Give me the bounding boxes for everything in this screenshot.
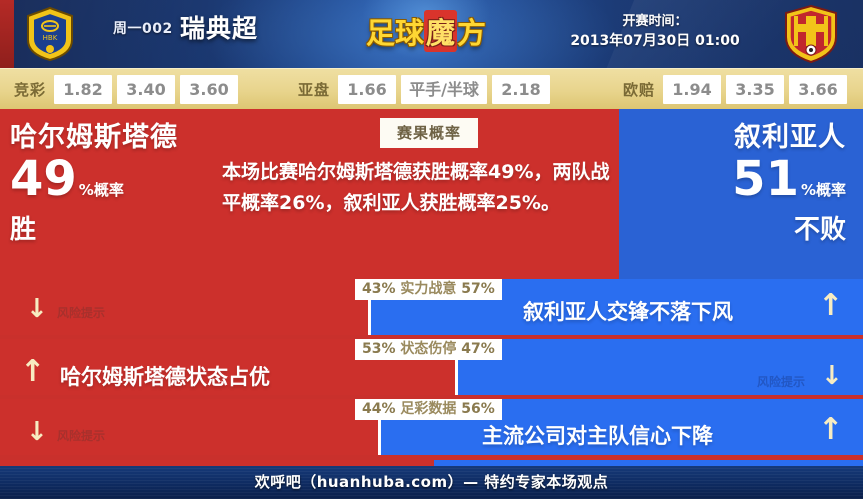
row-left-message: 哈尔姆斯塔德状态占优 [60, 361, 270, 391]
down-arrow-icon: ↓ [26, 296, 48, 322]
odds-cell[interactable]: 1.82 [54, 75, 112, 104]
odds-group-title: 竞彩 [14, 79, 46, 100]
row-right-message: 主流公司对主队信心下降 [482, 420, 713, 450]
row-right-message: 叙利亚人交锋不落下风 [523, 296, 733, 326]
odds-group-jingcai: 竞彩 1.82 3.40 3.60 [14, 69, 243, 110]
row-metric-pill: 53% 状态伤停 47% [355, 339, 502, 360]
home-team-crest-icon: HBK [22, 6, 78, 62]
svg-text:HBK: HBK [43, 34, 58, 42]
row-metric-pill: 43% 实力战意 57% [355, 279, 502, 300]
home-summary-block: 哈尔姆斯塔德 49%概率 胜 [10, 122, 215, 245]
odds-cell[interactable]: 3.40 [117, 75, 175, 104]
odds-cell[interactable]: 3.66 [789, 75, 847, 104]
logo-part-3: 方 [457, 16, 486, 50]
odds-cell[interactable]: 3.60 [180, 75, 238, 104]
row-left-percent: 43% [362, 281, 396, 297]
comparison-rows: 43% 实力战意 57% ↓ 风险提示 叙利亚人交锋不落下风 ↑ 53% 状态伤… [0, 279, 863, 460]
table-row: 44% 足彩数据 56% ↓ 风险提示 主流公司对主队信心下降 ↑ [0, 399, 863, 455]
logo-part-1: 足球 [366, 16, 424, 50]
footer-text: 欢呼吧（huanhuba.com）— 特约专家本场观点 [255, 473, 609, 491]
away-probability-suffix: %概率 [801, 181, 846, 199]
table-row: 53% 状态伤停 47% ↑ 哈尔姆斯塔德状态占优 风险提示 ↓ [0, 339, 863, 395]
row-left-percent: 44% [362, 401, 396, 417]
odds-cell[interactable]: 1.94 [663, 75, 721, 104]
home-probability-value: 49 [10, 151, 77, 207]
site-logo[interactable]: 足球魔方 [351, 0, 501, 68]
home-team-name: 哈尔姆斯塔德 [10, 122, 215, 154]
home-result-label: 胜 [10, 215, 215, 245]
odds-group-yapan: 亚盘 1.66 平手/半球 2.18 [298, 69, 555, 110]
header-bar: HBK 周一002 瑞典超 足球魔方 开赛时间： 2013年07月30日 01:… [0, 0, 863, 68]
tab-match-probability[interactable]: 赛果概率 [380, 118, 478, 148]
down-arrow-icon: ↓ [821, 363, 843, 389]
infographic-root: HBK 周一002 瑞典超 足球魔方 开赛时间： 2013年07月30日 01:… [0, 0, 863, 499]
probability-panel: 哈尔姆斯塔德 49%概率 胜 叙利亚人 51%概率 不败 赛果概率 本场比赛哈尔… [0, 109, 863, 279]
away-summary-block: 叙利亚人 51%概率 不败 [622, 122, 858, 245]
league-name: 瑞典超 [180, 9, 258, 45]
kickoff-label: 开赛时间： [560, 12, 750, 31]
table-row: 43% 实力战意 57% ↓ 风险提示 叙利亚人交锋不落下风 ↑ [0, 279, 863, 335]
odds-cell[interactable]: 1.66 [338, 75, 396, 104]
row-metric-pill: 44% 足彩数据 56% [355, 399, 502, 420]
up-arrow-icon: ↑ [818, 417, 843, 443]
odds-cell[interactable]: 2.18 [492, 75, 550, 104]
row-left-bar [0, 279, 368, 335]
away-probability-value: 51 [732, 151, 799, 207]
row-right-percent: 56% [461, 401, 495, 417]
row-metric-label: 足彩数据 [400, 401, 456, 417]
odds-group-oupei: 欧赔 1.94 3.35 3.66 [623, 69, 852, 110]
row-metric-label: 状态伤停 [400, 341, 456, 357]
home-probability: 49%概率 [10, 154, 215, 215]
odds-cell[interactable]: 平手/半球 [401, 75, 487, 104]
risk-label-left: 风险提示 [57, 304, 105, 321]
match-summary-text: 本场比赛哈尔姆斯塔德获胜概率49%，两队战平概率26%，叙利亚人获胜概率25%。 [222, 157, 612, 219]
match-number: 周一002 [113, 18, 173, 38]
row-left-percent: 53% [362, 341, 396, 357]
up-arrow-icon: ↑ [818, 293, 843, 319]
risk-label-right: 风险提示 [757, 373, 805, 390]
home-probability-suffix: %概率 [79, 181, 124, 199]
site-logo-text: 足球魔方 [351, 10, 501, 52]
up-arrow-icon: ↑ [20, 359, 45, 385]
odds-group-title: 欧赔 [623, 79, 655, 100]
footer-bar: 欢呼吧（huanhuba.com）— 特约专家本场观点 [0, 466, 863, 499]
away-team-crest-icon [782, 4, 840, 64]
logo-part-2: 魔 [424, 10, 457, 52]
kickoff-block: 开赛时间： 2013年07月30日 01:00 [560, 12, 750, 51]
odds-cell[interactable]: 3.35 [726, 75, 784, 104]
odds-bar: 竞彩 1.82 3.40 3.60 亚盘 1.66 平手/半球 2.18 欧赔 … [0, 68, 863, 110]
away-result-label: 不败 [622, 215, 846, 245]
away-team-name: 叙利亚人 [622, 122, 846, 154]
row-right-percent: 57% [461, 281, 495, 297]
away-probability: 51%概率 [622, 154, 846, 215]
down-arrow-icon: ↓ [26, 419, 48, 445]
odds-group-title: 亚盘 [298, 79, 330, 100]
row-right-percent: 47% [461, 341, 495, 357]
risk-label-left: 风险提示 [57, 427, 105, 444]
kickoff-time: 2013年07月30日 01:00 [560, 31, 750, 51]
row-metric-label: 实力战意 [400, 281, 456, 297]
